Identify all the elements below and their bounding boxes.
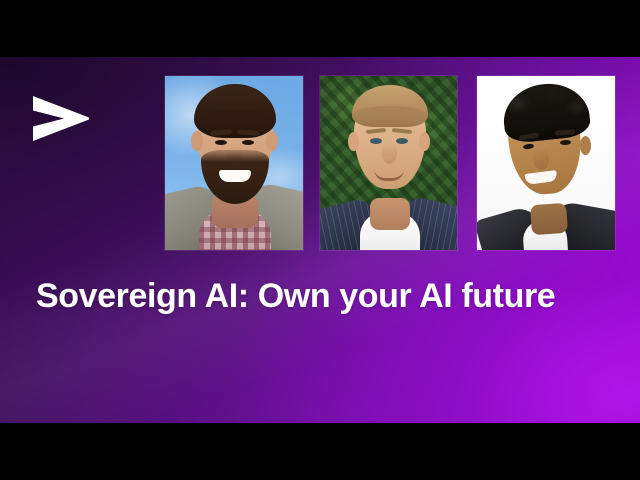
speaker-2-eye-right [396,138,408,144]
speaker-2-ear-right [419,132,430,151]
accenture-chevron-icon [33,96,89,141]
letterbox-bar-top [0,0,640,57]
speaker-1-eye-right [242,140,254,145]
speaker-1-eye-left [215,140,227,145]
speaker-photo-1 [165,76,303,250]
speaker-1-smile [219,170,251,182]
speaker-1-hairline [195,110,275,132]
speaker-2-hairline [353,106,427,124]
speaker-photo-strip [165,76,615,250]
letterbox-bar-bottom [0,423,640,480]
speaker-photo-3 [477,76,615,250]
speaker-2-eye-left [370,138,382,144]
speaker-2-neck [370,198,410,230]
speaker-2-ear-left [348,132,359,151]
video-frame: Sovereign AI: Own your AI future [0,0,640,480]
speaker-3-ear-right [580,136,591,155]
speaker-3-neck [530,203,568,235]
speaker-1-ear-left [191,131,203,151]
speaker-photo-2 [320,76,457,250]
speaker-1-ear-right [266,131,278,151]
speaker-2-nose [382,142,397,164]
title-card-headline: Sovereign AI: Own your AI future [36,277,576,316]
